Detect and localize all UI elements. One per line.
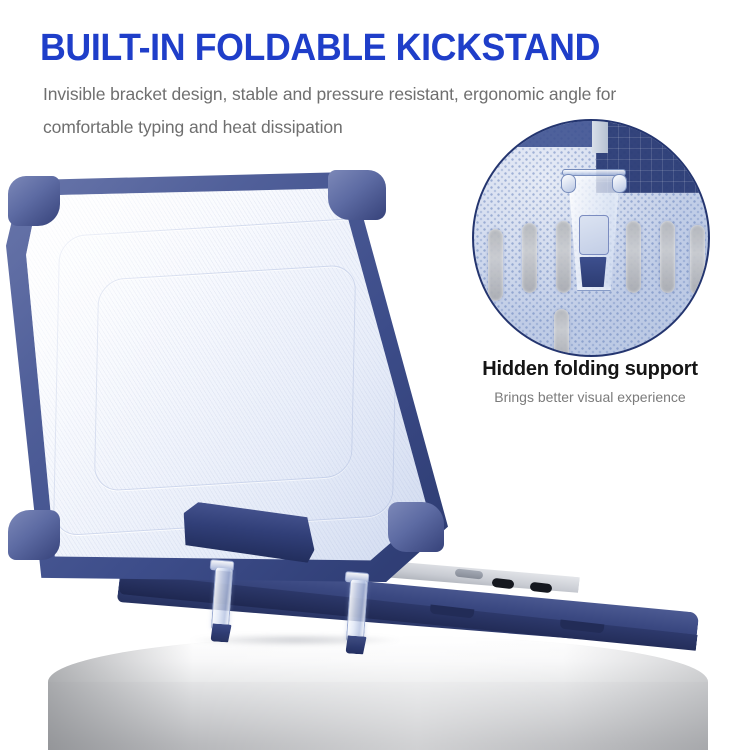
bracket-foot: [579, 257, 607, 287]
vent-slot-6: [690, 225, 705, 295]
corner-bumper-bottom-left: [8, 510, 60, 560]
callout-caption: Hidden folding support: [430, 358, 750, 381]
corner-bumper-top-right: [328, 170, 386, 220]
vent-slot-5: [660, 221, 675, 293]
product-feature-graphic: BUILT-IN FOLDABLE KICKSTAND Invisible br…: [0, 0, 750, 750]
case-navy-strip: [492, 119, 600, 147]
bracket-hinge-knob-right: [612, 174, 627, 193]
case-silver-tab: [592, 119, 608, 153]
callout-subcaption: Brings better visual experience: [430, 389, 750, 405]
corner-bumper-bottom-right: [388, 502, 444, 552]
folding-support-bracket: [560, 163, 628, 291]
bracket-hinge-knob-left: [561, 174, 576, 193]
contact-shadow: [190, 634, 400, 646]
corner-bumper-top-left: [8, 176, 60, 226]
vent-slot-4: [626, 221, 641, 293]
detail-callout: [472, 119, 710, 357]
callout-circle-frame: [472, 119, 710, 357]
vent-slot-2: [522, 223, 537, 293]
bracket-inner-panel: [579, 215, 609, 255]
vent-slot-1: [488, 229, 503, 301]
vent-slot-7: [554, 309, 569, 357]
